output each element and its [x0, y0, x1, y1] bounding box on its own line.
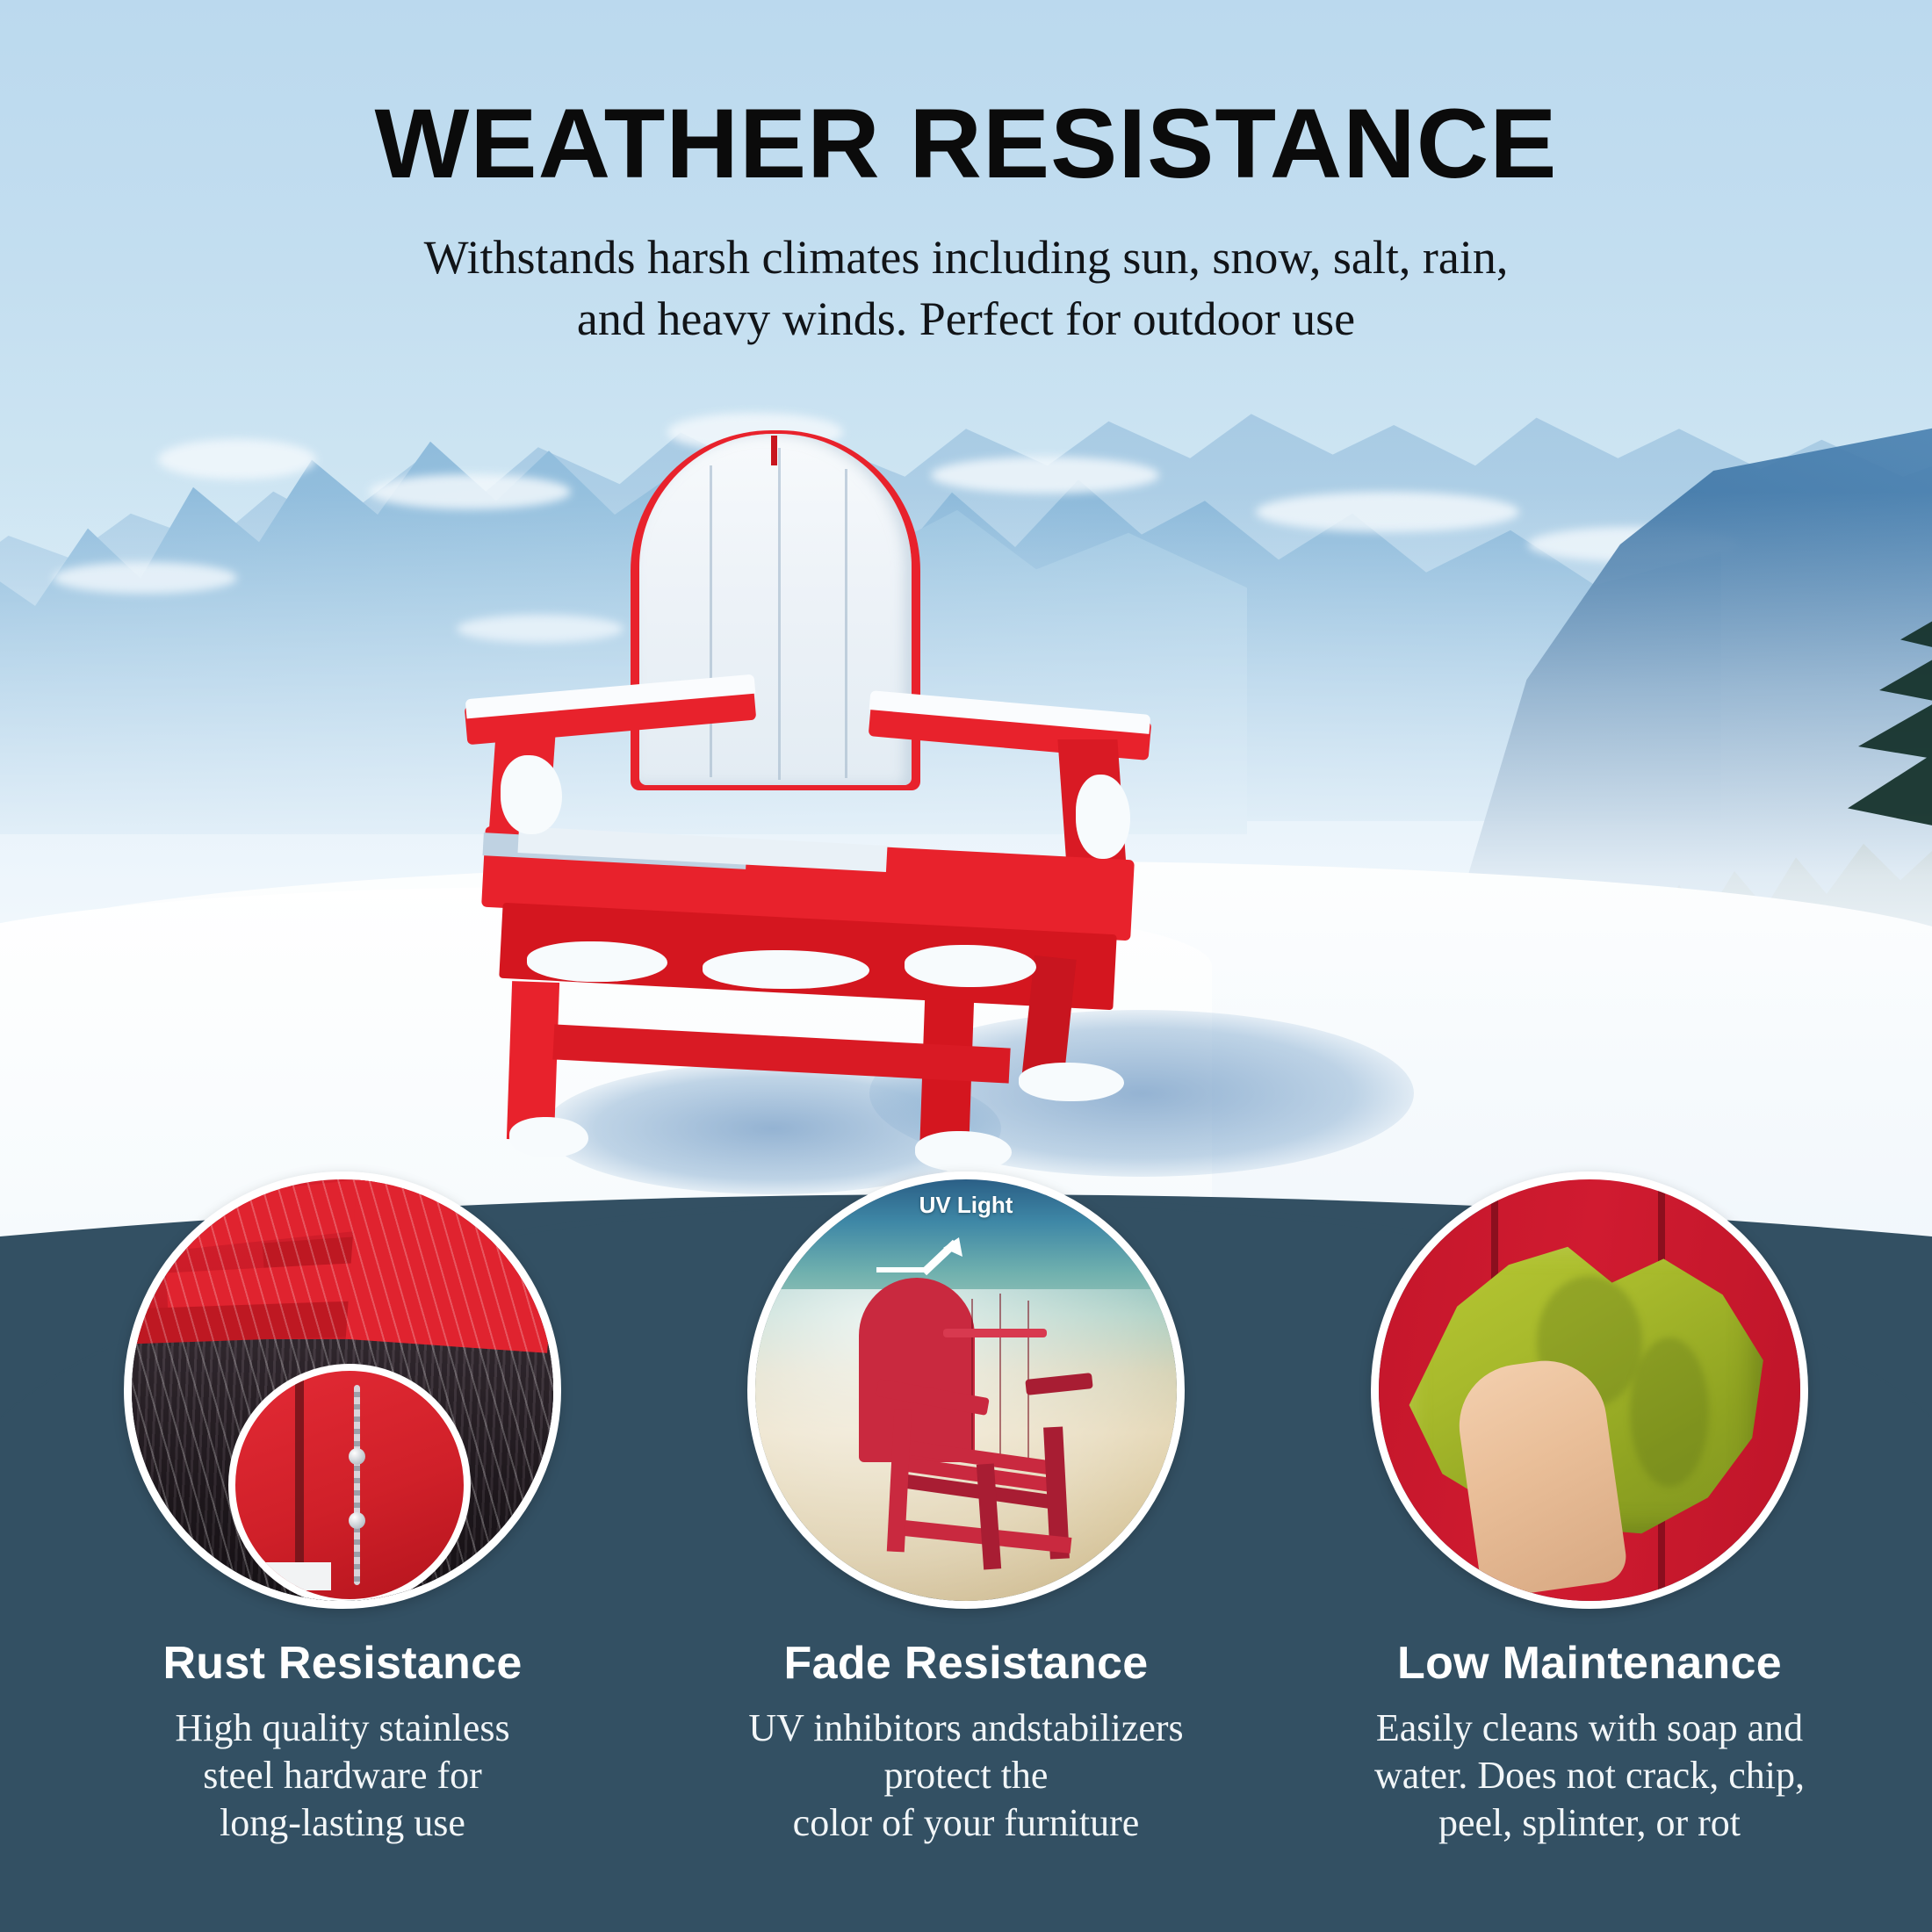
snow-patch [1019, 1063, 1124, 1101]
feature-image-fade-resistance: UV Light [747, 1171, 1185, 1609]
infographic-page: WEATHER RESISTANCE Withstands harsh clim… [0, 0, 1932, 1932]
snow-patch [1076, 775, 1130, 859]
feature-desc-line: protect the [659, 1752, 1273, 1799]
chain-screw [349, 1448, 365, 1465]
beach-chair-arm-right [1025, 1373, 1092, 1395]
feature-low-maintenance: Low Maintenance Easily cleans with soap … [1282, 1159, 1897, 1846]
snow-patch [703, 950, 869, 989]
hardware-closeup-circle [228, 1364, 471, 1606]
feature-rust-resistance: Rust Resistance High quality stainless s… [35, 1159, 650, 1846]
page-subtitle: Withstands harsh climates including sun,… [0, 193, 1932, 350]
uv-light-label: UV Light [755, 1192, 1177, 1219]
chain-screw [349, 1512, 365, 1529]
white-highlight [254, 1562, 331, 1590]
cloth-fold [1630, 1337, 1709, 1487]
feature-title-rust-resistance: Rust Resistance [35, 1639, 650, 1689]
beach-chair [859, 1278, 1096, 1568]
snow-patch [527, 941, 667, 982]
feature-fade-resistance: UV Light [659, 1159, 1273, 1846]
header: WEATHER RESISTANCE Withstands harsh clim… [0, 0, 1932, 350]
snow-patch [905, 945, 1036, 987]
feature-list: Rust Resistance High quality stainless s… [0, 1159, 1932, 1932]
subtitle-line-2: and heavy winds. Perfect for outdoor use [0, 288, 1932, 350]
feature-desc-line: long-lasting use [35, 1799, 650, 1847]
feature-image-rust-resistance [124, 1171, 561, 1609]
feature-desc-fade-resistance: UV inhibitors andstabilizers protect the… [659, 1705, 1273, 1846]
beach-chair-crossbar [943, 1329, 1047, 1337]
beach-chair-seam [971, 1299, 973, 1459]
snow-patch [501, 755, 562, 834]
snow-cap [158, 439, 316, 479]
feature-desc-line: water. Does not crack, chip, [1282, 1752, 1897, 1799]
snow-patch [509, 1117, 588, 1157]
page-title: WEATHER RESISTANCE [0, 0, 1932, 193]
beach-chair-seam [999, 1294, 1001, 1460]
feature-title-low-maintenance: Low Maintenance [1282, 1639, 1897, 1689]
uv-arrow-icon [875, 1237, 971, 1288]
adirondack-chair [606, 430, 1326, 1124]
feature-desc-line: color of your furniture [659, 1799, 1273, 1847]
feature-desc-line: peel, splinter, or rot [1282, 1799, 1897, 1847]
chair-back-seam [778, 448, 781, 780]
feature-desc-low-maintenance: Easily cleans with soap and water. Does … [1282, 1705, 1897, 1846]
feature-title-fade-resistance: Fade Resistance [659, 1639, 1273, 1689]
feature-image-low-maintenance [1371, 1171, 1808, 1609]
feature-desc-rust-resistance: High quality stainless steel hardware fo… [35, 1705, 650, 1846]
feature-desc-line: UV inhibitors andstabilizers [659, 1705, 1273, 1752]
stainless-chain-icon [354, 1385, 360, 1586]
feature-desc-line: steel hardware for [35, 1752, 650, 1799]
subtitle-line-1: Withstands harsh climates including sun,… [0, 227, 1932, 288]
beach-chair-back [859, 1278, 975, 1462]
feature-desc-line: Easily cleans with soap and [1282, 1705, 1897, 1752]
chair-back-seam [845, 469, 847, 778]
feature-desc-line: High quality stainless [35, 1705, 650, 1752]
chair-back-red-notch [771, 436, 777, 465]
chair-back-seam [710, 465, 712, 777]
